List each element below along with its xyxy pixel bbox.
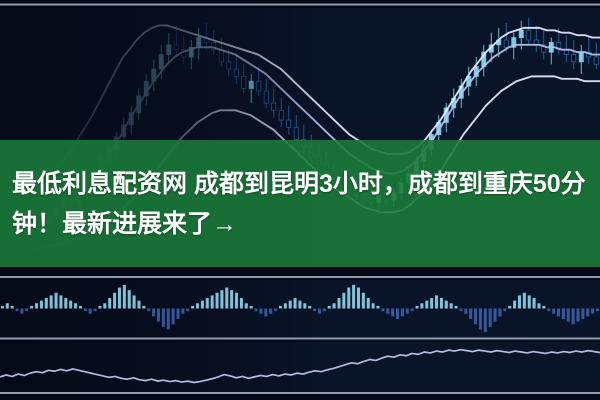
stock-chart-banner: 最低利息配资网 成都到昆明3小时，成都到重庆50分钟！最新进展来了→ [0, 0, 600, 400]
promo-banner: 最低利息配资网 成都到昆明3小时，成都到重庆50分钟！最新进展来了→ [0, 140, 600, 267]
banner-headline: 最低利息配资网 成都到昆明3小时，成都到重庆50分钟！最新进展来了→ [12, 164, 590, 244]
